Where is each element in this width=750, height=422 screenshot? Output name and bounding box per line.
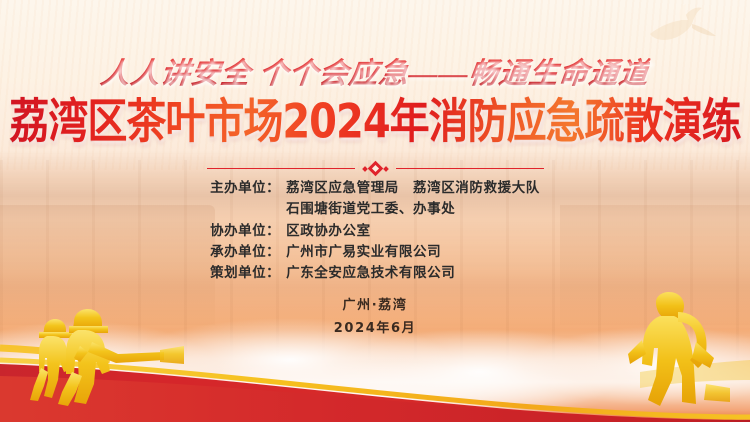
organizer-label: 协办单位：	[210, 221, 286, 242]
divider-line-right	[396, 168, 544, 169]
organizer-row: 石围塘街道党工委、办事处	[210, 199, 540, 220]
organizers-block: 主办单位： 荔湾区应急管理局 荔湾区消防救援大队 石围塘街道党工委、办事处 协办…	[0, 178, 750, 285]
divider-dot-left	[362, 166, 368, 172]
slogan-text: 人人讲安全 个个会应急——畅通生命通道	[98, 50, 651, 92]
organizer-row: 策划单位： 广东全安应急技术有限公司	[210, 263, 540, 284]
divider-diamond-inner	[371, 165, 378, 172]
organizer-value: 区政协办公室	[286, 221, 540, 242]
organizer-row: 主办单位： 荔湾区应急管理局 荔湾区消防救援大队	[210, 178, 540, 199]
divider-diamond-outer	[367, 161, 383, 177]
organizer-value: 广东全安应急技术有限公司	[286, 263, 540, 284]
footer-block: 广州·荔湾 2024年6月	[0, 295, 750, 341]
organizer-row: 承办单位： 广州市广易实业有限公司	[210, 242, 540, 263]
divider-ornament	[0, 163, 750, 174]
organizer-row: 协办单位： 区政协办公室	[210, 221, 540, 242]
organizer-label	[210, 199, 286, 220]
headline-group: 人人讲安全 个个会应急——畅通生命通道 荔湾区茶叶市场2024年消防应急疏散演练	[0, 50, 750, 141]
dove-icon	[630, 4, 720, 50]
organizer-value: 荔湾区应急管理局 荔湾区消防救援大队	[286, 178, 540, 199]
organizer-label: 策划单位：	[210, 263, 286, 284]
organizer-value: 石围塘街道党工委、办事处	[286, 199, 540, 220]
organizers-table: 主办单位： 荔湾区应急管理局 荔湾区消防救援大队 石围塘街道党工委、办事处 协办…	[210, 178, 540, 285]
organizer-label: 承办单位：	[210, 242, 286, 263]
location-text: 广州·荔湾	[0, 295, 750, 318]
divider-dot-right	[383, 166, 389, 172]
page-title: 荔湾区茶叶市场2024年消防应急疏散演练	[0, 96, 750, 149]
divider-diamond-icon	[363, 163, 388, 174]
date-text: 2024年6月	[0, 318, 750, 341]
divider-line-left	[207, 168, 355, 169]
organizer-value: 广州市广易实业有限公司	[286, 242, 540, 263]
organizer-label: 主办单位：	[210, 178, 286, 199]
poster-canvas: 人人讲安全 个个会应急——畅通生命通道 荔湾区茶叶市场2024年消防应急疏散演练…	[0, 0, 750, 422]
